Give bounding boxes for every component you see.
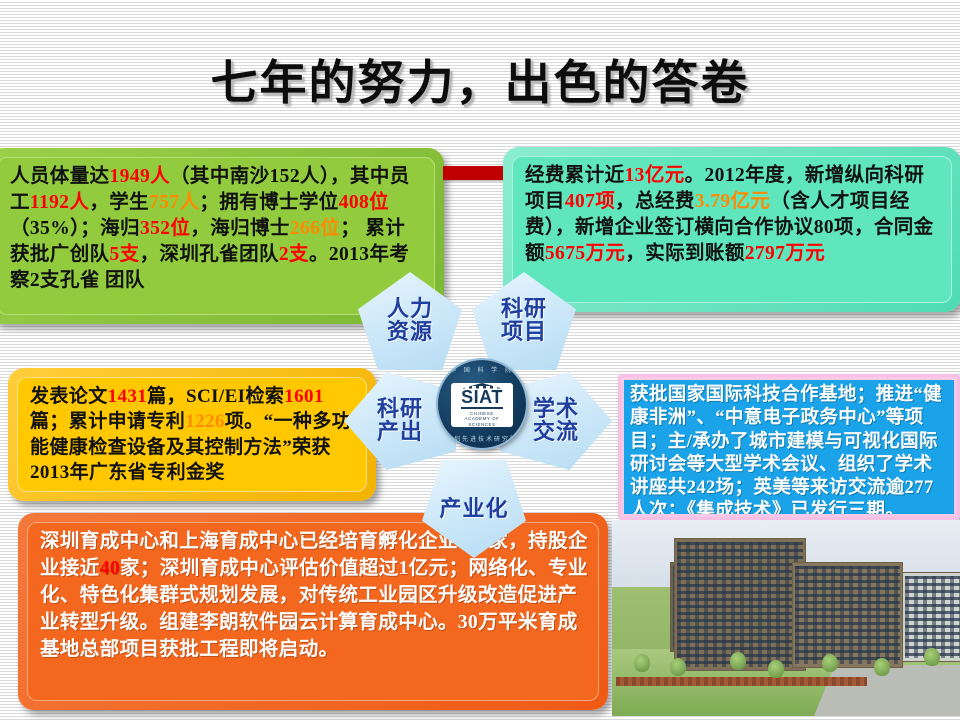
campus-photo (612, 520, 960, 716)
pentagon-research-output[interactable]: 科研 产出 (344, 372, 456, 470)
callout-industrialization-inner: 深圳育成中心和上海育成中心已经培育孵化企业100家，持股企业接近40家；深圳育成… (27, 522, 599, 701)
callout-research-output-text: 发表论文1431篇，SCI/EI检索1601篇；累计申请专利1226项。“一种多… (30, 384, 356, 485)
logo-subtitle-line3: SCIENCES (465, 422, 500, 428)
pentagon-label-line2: 项目 (501, 321, 547, 344)
temple-icon (462, 383, 502, 389)
callout-academic-exchange: 获批国家国际科技合作基地；推进“健康非洲”、“中意电子政务中心”等项目；主/承办… (618, 374, 960, 520)
logo-subtitle-line2: ACADEMY OF (465, 416, 500, 422)
callout-academic-exchange-inner: 获批国家国际科技合作基地；推进“健康非洲”、“中意电子政务中心”等项目；主/承办… (624, 380, 954, 514)
pentagon-human-resources[interactable]: 人力 资源 (358, 272, 462, 370)
photo-windows (795, 566, 900, 664)
logo-plate: SIAT CHINESE ACADEMY OF SCIENCES (451, 383, 513, 427)
photo-tree (768, 660, 784, 678)
photo-windows (677, 542, 803, 667)
callout-research-output-inner: 发表论文1431篇，SCI/EI检索1601篇；累计申请专利1226项。“一种多… (17, 377, 367, 492)
slide-canvas: 七年的努力，出色的答卷 人员体量达1949人（其中南沙152人），其中员工119… (0, 0, 960, 720)
photo-tree (874, 658, 890, 676)
photo-windows (905, 576, 960, 658)
pentagon-label-line1: 科研 (377, 398, 423, 421)
pentagon-label-line2: 交流 (533, 421, 579, 444)
photo-tree (924, 648, 940, 666)
photo-building-main (674, 538, 806, 671)
pentagon-label-line1: 科研 (501, 298, 547, 321)
logo-ring-top-text: 中 国 科 学 院 (438, 365, 526, 374)
callout-industrialization-text: 深圳育成中心和上海育成中心已经培育孵化企业100家，持股企业接近40家；深圳育成… (40, 529, 588, 664)
pentagon-cluster: 人力 资源 科研 项目 科研 产出 学术 交流 产业化 (352, 272, 608, 528)
pentagon-label-line1: 人力 (387, 298, 433, 321)
photo-building-right (792, 562, 903, 668)
photo-tree (822, 654, 838, 672)
callout-research-projects-text: 经费累计近13亿元。2012年度，新增纵向科研项目407项，总经费3.79亿元（… (525, 163, 941, 267)
pentagon-research-output-labels: 科研 产出 (377, 398, 423, 444)
pentagon-label-line2: 资源 (387, 321, 433, 344)
logo-acronym: SIAT (461, 388, 503, 409)
pentagon-label-line1: 学术 (533, 398, 579, 421)
pentagon-label-line2: 产出 (377, 421, 423, 444)
pentagon-academic-exchange-labels: 学术 交流 (533, 398, 579, 444)
photo-tree (670, 658, 686, 676)
photo-tree (634, 654, 650, 672)
red-connector-bar (443, 166, 503, 180)
callout-industrialization: 深圳育成中心和上海育成中心已经培育孵化企业100家，持股企业接近40家；深圳育成… (18, 513, 608, 710)
pentagon-research-projects[interactable]: 科研 项目 (472, 272, 576, 370)
photo-hedge (616, 677, 867, 686)
callout-research-output: 发表论文1431篇，SCI/EI检索1601篇；累计申请专利1226项。“一种多… (8, 368, 376, 501)
logo-subtitle: CHINESE ACADEMY OF SCIENCES (465, 411, 500, 428)
siat-logo: 中 国 科 学 院 SIAT CHINESE ACADEMY OF SCIENC… (438, 360, 526, 448)
logo-ring-bottom-text: 深圳先进技术研究院 (438, 434, 526, 443)
pentagon-human-resources-labels: 人力 资源 (387, 298, 433, 344)
pentagon-research-projects-labels: 科研 项目 (501, 298, 547, 344)
callout-academic-exchange-text: 获批国家国际科技合作基地；推进“健康非洲”、“中意电子政务中心”等项目；主/承办… (630, 384, 948, 514)
photo-tree (730, 652, 746, 670)
pentagon-label-line1: 产业化 (439, 498, 508, 521)
pentagon-industrialization-labels: 产业化 (439, 498, 508, 521)
page-title: 七年的努力，出色的答卷 (0, 44, 960, 113)
